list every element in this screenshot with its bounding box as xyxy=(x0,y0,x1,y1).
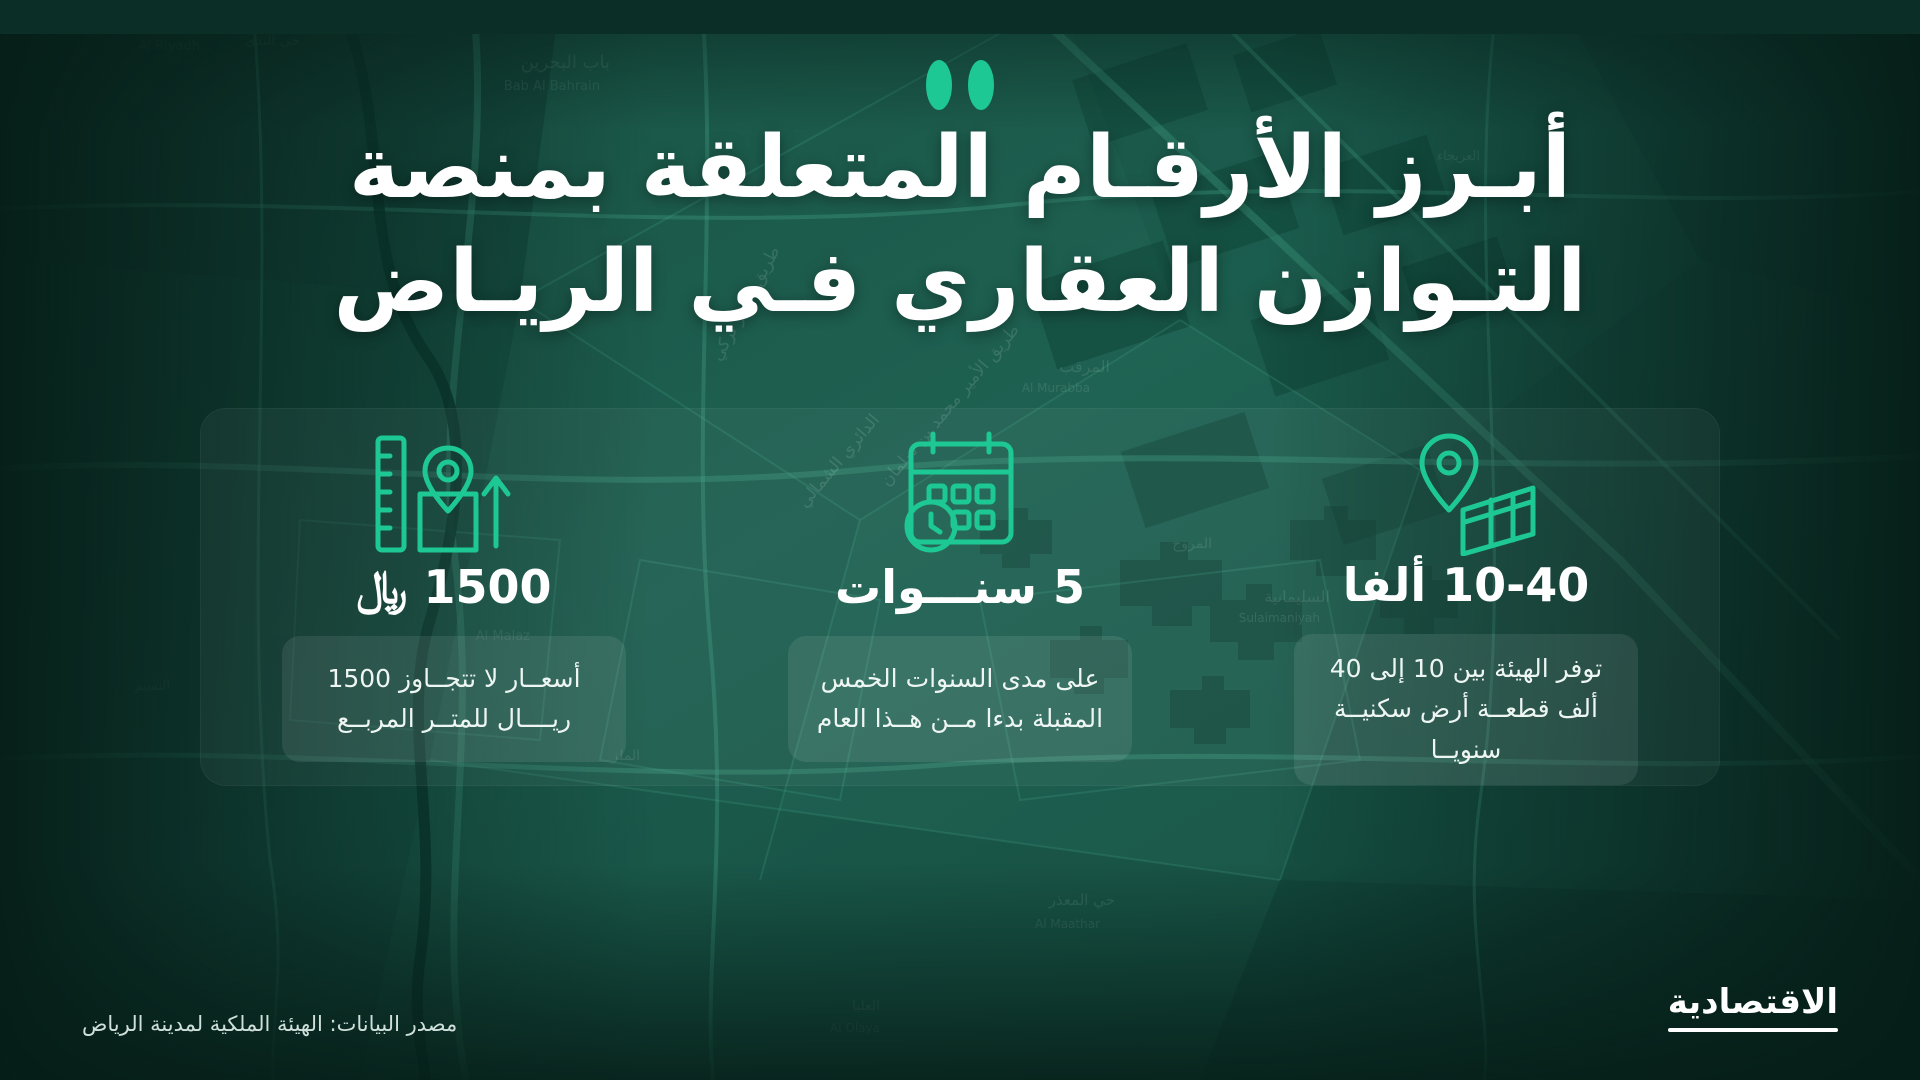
title-line-1: أبـرز الأرقـام المتعلقة بمنصة xyxy=(170,112,1750,226)
stat-card-plots: 10-40 ألفا توفر الهيئة بين 10 إلى 40 ألف… xyxy=(1213,409,1719,785)
calendar-clock-icon xyxy=(885,425,1035,560)
stat-description-box: على مدى السنوات الخمس المقبلة بدءا مــن … xyxy=(788,636,1132,762)
quote-mark-icon xyxy=(926,60,994,110)
infographic-content: أبـرز الأرقـام المتعلقة بمنصة التـوازن ا… xyxy=(0,0,1920,1080)
logo-text: الاقتصادية xyxy=(1668,982,1838,1022)
data-source-label: مصدر البيانات: الهيئة الملكية لمدينة الر… xyxy=(82,1012,457,1036)
page-title: أبـرز الأرقـام المتعلقة بمنصة التـوازن ا… xyxy=(0,112,1920,339)
stat-description-text: على مدى السنوات الخمس المقبلة بدءا مــن … xyxy=(806,659,1114,740)
map-pin-plot-icon xyxy=(1391,425,1541,558)
ruler-price-growth-icon xyxy=(364,425,544,560)
logo-underline xyxy=(1668,1028,1838,1032)
stat-headline: 1500 ﷼ xyxy=(357,564,552,610)
title-line-2: التـوازن العقاري فـي الريـاض xyxy=(170,226,1750,340)
stat-headline: 10-40 ألفا xyxy=(1343,562,1590,608)
stat-headline: 5 سنـــوات xyxy=(835,564,1085,610)
stat-card-years: 5 سنـــوات على مدى السنوات الخمس المقبلة… xyxy=(707,409,1213,785)
stat-description-text: توفر الهيئة بين 10 إلى 40 ألف قطعــة أرض… xyxy=(1312,649,1620,771)
stats-cards-row: 10-40 ألفا توفر الهيئة بين 10 إلى 40 ألف… xyxy=(201,409,1719,785)
quote-dot-left xyxy=(968,60,994,110)
stats-panel: 10-40 ألفا توفر الهيئة بين 10 إلى 40 ألف… xyxy=(200,408,1720,786)
stat-description-text: أسعــار لا تتجــاوز 1500 ريــــال للمتــ… xyxy=(300,659,608,740)
stat-description-box: توفر الهيئة بين 10 إلى 40 ألف قطعــة أرض… xyxy=(1294,634,1638,785)
stat-card-price: 1500 ﷼ أسعــار لا تتجــاوز 1500 ريــــال… xyxy=(201,409,707,785)
stat-description-box: أسعــار لا تتجــاوز 1500 ريــــال للمتــ… xyxy=(282,636,626,762)
quote-dot-right xyxy=(926,60,952,110)
aleqtisadiah-logo: الاقتصادية xyxy=(1668,982,1838,1032)
